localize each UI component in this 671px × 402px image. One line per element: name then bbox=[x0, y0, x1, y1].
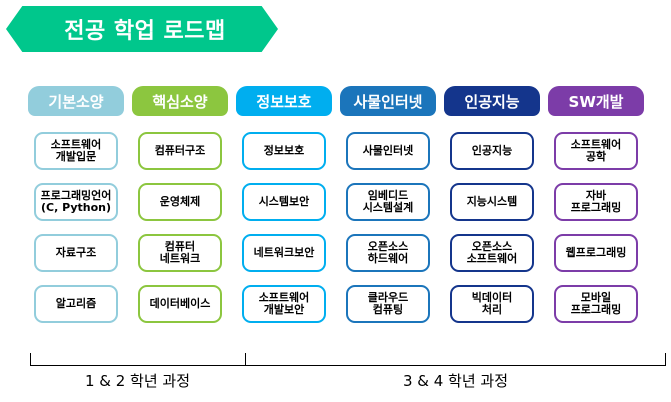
column-header[interactable]: 핵심소양 bbox=[132, 86, 228, 116]
course-box[interactable]: 임베디드시스템설계 bbox=[346, 183, 430, 221]
page-title: 전공 학업 로드맵 bbox=[6, 6, 278, 52]
column-header[interactable]: SW개발 bbox=[548, 86, 644, 116]
roadmap-title-banner: 전공 학업 로드맵 bbox=[6, 6, 278, 52]
course-label-line2: 프로그래밍 bbox=[571, 304, 622, 316]
column-header[interactable]: 정보보호 bbox=[236, 86, 332, 116]
course-box[interactable]: 시스템보안 bbox=[242, 183, 326, 221]
course-box-text: 인공지능 bbox=[472, 145, 512, 157]
course-label-line2: 시스템설계 bbox=[363, 202, 414, 214]
course-box-text: 소프트웨어개발보안 bbox=[259, 292, 310, 315]
course-box-text: 소프트웨어개발입문 bbox=[51, 139, 102, 162]
course-label-line1: 인공지능 bbox=[472, 145, 512, 157]
course-box-text: 프로그래밍언어(C, Python) bbox=[41, 190, 112, 213]
column-header[interactable]: 기본소양 bbox=[28, 86, 124, 116]
course-box-text: 자바프로그래밍 bbox=[571, 190, 622, 213]
course-box-text: 데이터베이스 bbox=[150, 298, 211, 310]
roadmap-column: SW개발소프트웨어공학자바프로그래밍웹프로그래밍모바일프로그래밍 bbox=[548, 86, 644, 323]
course-box-text: 컴퓨터구조 bbox=[155, 145, 206, 157]
axis-tick-end bbox=[665, 353, 666, 366]
course-label-line1: 네트워크보안 bbox=[254, 247, 315, 259]
course-box-text: 시스템보안 bbox=[259, 196, 310, 208]
course-box-text: 자료구조 bbox=[56, 247, 96, 259]
course-box[interactable]: 지능시스템 bbox=[450, 183, 534, 221]
course-box[interactable]: 자바프로그래밍 bbox=[554, 183, 638, 221]
axis-tick-start bbox=[30, 353, 31, 366]
course-list: 정보보호시스템보안네트워크보안소프트웨어개발보안 bbox=[236, 132, 332, 323]
roadmap-column: 사물인터넷사물인터넷임베디드시스템설계오픈소스하드웨어클라우드컴퓨팅 bbox=[340, 86, 436, 323]
roadmap-column: 기본소양소프트웨어개발입문프로그래밍언어(C, Python)자료구조알고리즘 bbox=[28, 86, 124, 323]
course-box[interactable]: 클라우드컴퓨팅 bbox=[346, 285, 430, 323]
course-label-line1: 시스템보안 bbox=[259, 196, 310, 208]
column-header[interactable]: 인공지능 bbox=[444, 86, 540, 116]
course-box[interactable]: 인공지능 bbox=[450, 132, 534, 170]
course-box[interactable]: 소프트웨어개발입문 bbox=[34, 132, 118, 170]
course-label-line1: 지능시스템 bbox=[467, 196, 518, 208]
course-box[interactable]: 네트워크보안 bbox=[242, 234, 326, 272]
axis-tick-middle bbox=[245, 353, 246, 366]
course-list: 인공지능지능시스템오픈소스소프트웨어빅데이터처리 bbox=[444, 132, 540, 323]
course-label-line1: 컴퓨터구조 bbox=[155, 145, 206, 157]
course-box[interactable]: 소프트웨어개발보안 bbox=[242, 285, 326, 323]
course-box[interactable]: 프로그래밍언어(C, Python) bbox=[34, 183, 118, 221]
course-label-line2: 프로그래밍 bbox=[571, 202, 622, 214]
course-box[interactable]: 소프트웨어공학 bbox=[554, 132, 638, 170]
course-box[interactable]: 모바일프로그래밍 bbox=[554, 285, 638, 323]
course-label-line2: 개발보안 bbox=[259, 304, 310, 316]
course-list: 소프트웨어공학자바프로그래밍웹프로그래밍모바일프로그래밍 bbox=[548, 132, 644, 323]
course-label-line2: 컴퓨팅 bbox=[368, 304, 408, 316]
course-box-text: 알고리즘 bbox=[56, 298, 96, 310]
course-box[interactable]: 웹프로그래밍 bbox=[554, 234, 638, 272]
course-label-line2: 개발입문 bbox=[51, 151, 102, 163]
course-box[interactable]: 오픈소스소프트웨어 bbox=[450, 234, 534, 272]
course-box[interactable]: 알고리즘 bbox=[34, 285, 118, 323]
course-label-line1: 정보보호 bbox=[264, 145, 304, 157]
year-axis: 1 & 2 학년 과정 3 & 4 학년 과정 bbox=[0, 352, 671, 402]
course-box-text: 네트워크보안 bbox=[254, 247, 315, 259]
roadmap-column: 정보보호정보보호시스템보안네트워크보안소프트웨어개발보안 bbox=[236, 86, 332, 323]
course-box-text: 임베디드시스템설계 bbox=[363, 190, 414, 213]
course-list: 컴퓨터구조운영체제컴퓨터네트워크데이터베이스 bbox=[132, 132, 228, 323]
course-box-text: 오픈소스하드웨어 bbox=[368, 241, 408, 264]
roadmap-columns: 기본소양소프트웨어개발입문프로그래밍언어(C, Python)자료구조알고리즘핵… bbox=[28, 86, 648, 323]
course-label-line2: 공학 bbox=[571, 151, 622, 163]
course-label-line2: (C, Python) bbox=[41, 202, 112, 214]
course-label-line1: 사물인터넷 bbox=[363, 145, 414, 157]
course-label-line1: 데이터베이스 bbox=[150, 298, 211, 310]
course-box-text: 정보보호 bbox=[264, 145, 304, 157]
course-box-text: 지능시스템 bbox=[467, 196, 518, 208]
course-box-text: 웹프로그래밍 bbox=[566, 247, 627, 259]
course-box[interactable]: 빅데이터처리 bbox=[450, 285, 534, 323]
axis-line bbox=[30, 365, 666, 366]
axis-label-years-3-4: 3 & 4 학년 과정 bbox=[245, 370, 666, 391]
column-header[interactable]: 사물인터넷 bbox=[340, 86, 436, 116]
course-box[interactable]: 데이터베이스 bbox=[138, 285, 222, 323]
course-box-text: 운영체제 bbox=[160, 196, 200, 208]
course-label-line1: 알고리즘 bbox=[56, 298, 96, 310]
axis-label-years-1-2: 1 & 2 학년 과정 bbox=[30, 370, 245, 391]
course-box[interactable]: 사물인터넷 bbox=[346, 132, 430, 170]
course-box-text: 모바일프로그래밍 bbox=[571, 292, 622, 315]
course-box[interactable]: 컴퓨터구조 bbox=[138, 132, 222, 170]
course-list: 소프트웨어개발입문프로그래밍언어(C, Python)자료구조알고리즘 bbox=[28, 132, 124, 323]
course-list: 사물인터넷임베디드시스템설계오픈소스하드웨어클라우드컴퓨팅 bbox=[340, 132, 436, 323]
course-box-text: 사물인터넷 bbox=[363, 145, 414, 157]
course-box[interactable]: 오픈소스하드웨어 bbox=[346, 234, 430, 272]
course-box[interactable]: 자료구조 bbox=[34, 234, 118, 272]
roadmap-column: 핵심소양컴퓨터구조운영체제컴퓨터네트워크데이터베이스 bbox=[132, 86, 228, 323]
course-box[interactable]: 컴퓨터네트워크 bbox=[138, 234, 222, 272]
course-label-line2: 네트워크 bbox=[160, 253, 200, 265]
course-label-line1: 자료구조 bbox=[56, 247, 96, 259]
course-label-line2: 소프트웨어 bbox=[467, 253, 518, 265]
course-box-text: 빅데이터처리 bbox=[472, 292, 512, 315]
course-box-text: 오픈소스소프트웨어 bbox=[467, 241, 518, 264]
course-box-text: 컴퓨터네트워크 bbox=[160, 241, 200, 264]
course-box-text: 소프트웨어공학 bbox=[571, 139, 622, 162]
course-label-line1: 운영체제 bbox=[160, 196, 200, 208]
roadmap-column: 인공지능인공지능지능시스템오픈소스소프트웨어빅데이터처리 bbox=[444, 86, 540, 323]
course-label-line2: 하드웨어 bbox=[368, 253, 408, 265]
course-box[interactable]: 정보보호 bbox=[242, 132, 326, 170]
course-box-text: 클라우드컴퓨팅 bbox=[368, 292, 408, 315]
course-label-line2: 처리 bbox=[472, 304, 512, 316]
course-box[interactable]: 운영체제 bbox=[138, 183, 222, 221]
course-label-line1: 웹프로그래밍 bbox=[566, 247, 627, 259]
